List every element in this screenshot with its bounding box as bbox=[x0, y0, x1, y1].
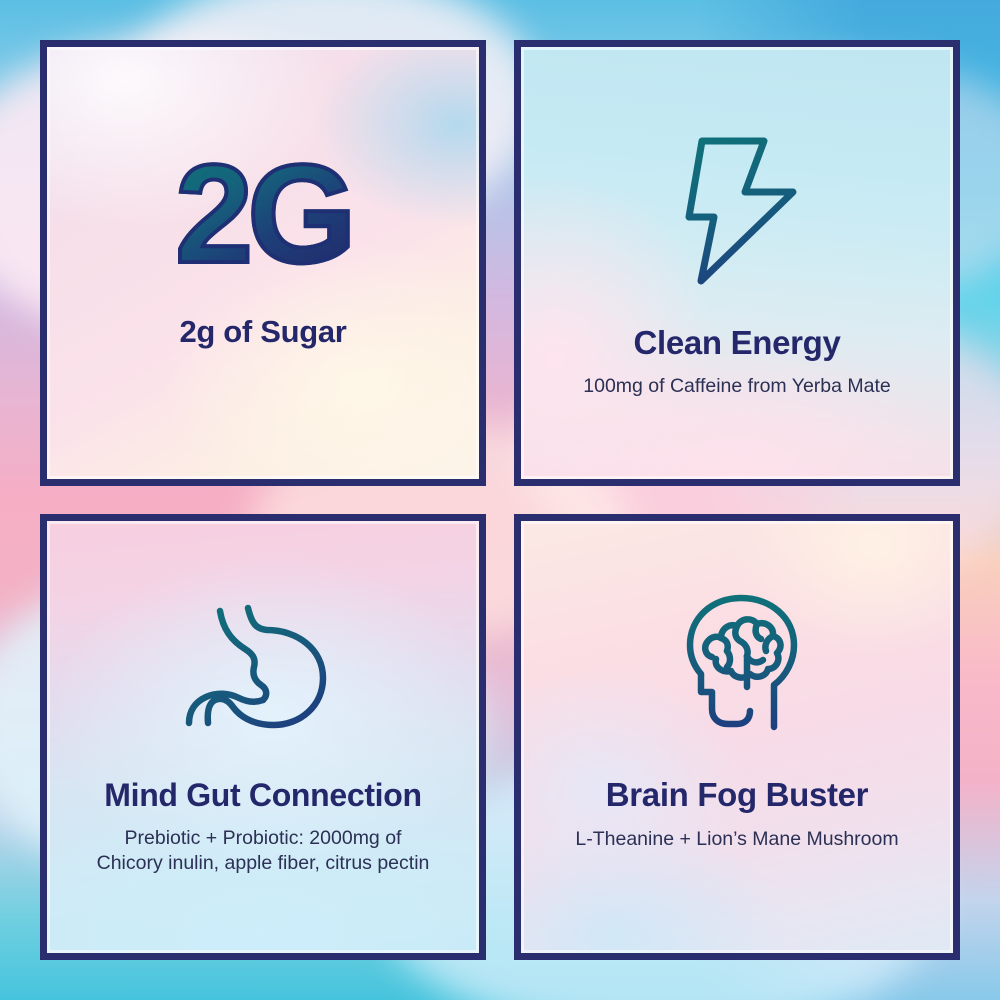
head-brain-icon bbox=[671, 593, 803, 733]
card-title: Brain Fog Buster bbox=[606, 777, 868, 813]
stomach-icon bbox=[173, 599, 353, 734]
feature-card-clean-energy: Clean Energy 100mg of Caffeine from Yerb… bbox=[514, 40, 960, 486]
card-subtitle: 100mg of Caffeine from Yerba Mate bbox=[583, 374, 891, 400]
feature-card-sugar: 2G 2g of Sugar bbox=[40, 40, 486, 486]
lightning-bolt-icon bbox=[677, 135, 797, 287]
card-title: Clean Energy bbox=[634, 325, 841, 361]
sugar-2g-label: 2G bbox=[175, 155, 351, 273]
feature-card-mind-gut: Mind Gut Connection Prebiotic + Probioti… bbox=[40, 514, 486, 960]
card-title: Mind Gut Connection bbox=[104, 778, 421, 813]
card-subtitle: Prebiotic + Probiotic: 2000mg of Chicory… bbox=[97, 826, 430, 877]
sugar-2g-icon: 2G bbox=[175, 155, 351, 273]
feature-card-grid: 2G 2g of Sugar Clean bbox=[40, 40, 960, 960]
card-title: 2g of Sugar bbox=[179, 315, 346, 348]
card-subtitle: L-Theanine + Lion’s Mane Mushroom bbox=[575, 827, 898, 853]
feature-card-brain-fog: Brain Fog Buster L-Theanine + Lion’s Man… bbox=[514, 514, 960, 960]
